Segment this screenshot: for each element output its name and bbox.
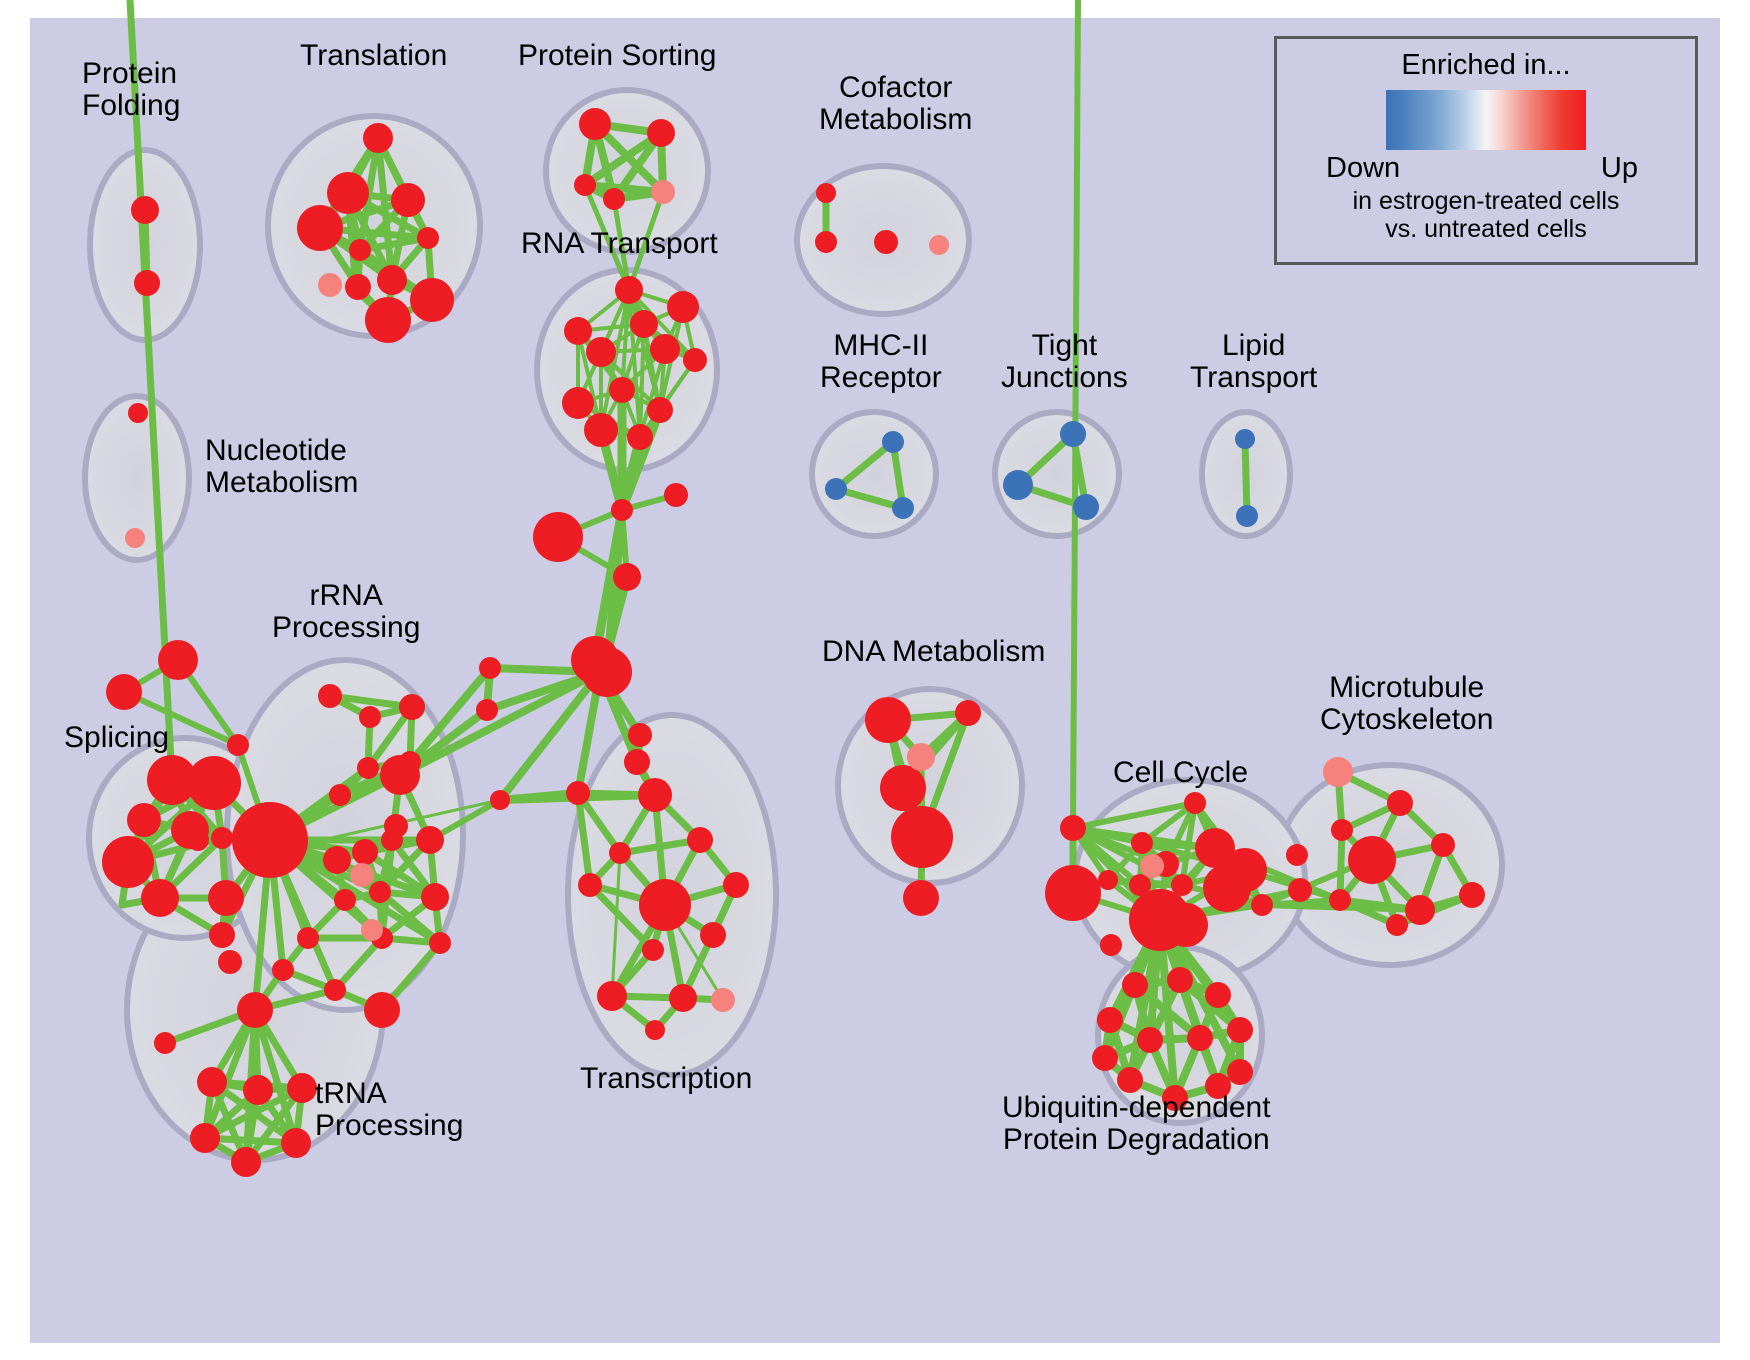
node[interactable] (687, 827, 713, 853)
node[interactable] (816, 183, 836, 203)
node[interactable] (630, 310, 658, 338)
node[interactable] (865, 697, 911, 743)
node[interactable] (1003, 470, 1033, 500)
cluster-label-tight-junctions: Tight Junctions (1001, 330, 1128, 394)
node[interactable] (664, 483, 688, 507)
node[interactable] (892, 497, 914, 519)
node[interactable] (329, 784, 351, 806)
node[interactable] (243, 1075, 273, 1105)
node[interactable] (364, 992, 400, 1028)
node[interactable] (127, 803, 161, 837)
node[interactable] (874, 230, 898, 254)
node[interactable] (363, 123, 393, 153)
node[interactable] (627, 424, 653, 450)
node[interactable] (1203, 864, 1251, 912)
node[interactable] (359, 706, 381, 728)
node[interactable] (1184, 792, 1206, 814)
node[interactable] (211, 827, 233, 849)
node[interactable] (1431, 833, 1455, 857)
node[interactable] (1131, 832, 1153, 854)
node[interactable] (141, 879, 179, 917)
node[interactable] (645, 1020, 665, 1040)
cluster-label-translation: Translation (300, 40, 447, 72)
legend-up-label: Up (1601, 152, 1638, 185)
cluster-label-cell-cycle: Cell Cycle (1113, 757, 1248, 789)
node[interactable] (880, 765, 926, 811)
node[interactable] (490, 790, 510, 810)
node[interactable] (416, 826, 444, 854)
node[interactable] (1097, 1007, 1123, 1033)
node[interactable] (361, 919, 383, 941)
node[interactable] (350, 863, 374, 887)
cluster-label-mhc-ii-receptor: MHC-II Receptor (820, 330, 942, 394)
legend-down-label: Down (1326, 152, 1400, 185)
node[interactable] (1140, 854, 1164, 878)
node[interactable] (955, 700, 981, 726)
cluster-label-protein-folding: Protein Folding (82, 58, 180, 122)
node[interactable] (232, 802, 308, 878)
node[interactable] (318, 273, 342, 297)
node[interactable] (324, 979, 346, 1001)
cluster-label-cofactor-metabolism: Cofactor Metabolism (819, 72, 972, 136)
node[interactable] (609, 842, 631, 864)
node[interactable] (609, 377, 635, 403)
node[interactable] (345, 274, 371, 300)
node[interactable] (683, 348, 707, 372)
node[interactable] (1098, 870, 1118, 890)
cluster-label-microtubule-cytoskeleton: Microtubule Cytoskeleton (1320, 672, 1493, 736)
node[interactable] (642, 939, 664, 961)
node[interactable] (357, 757, 379, 779)
node[interactable] (352, 839, 378, 865)
enrichment-map-figure: Protein Folding Translation Protein Sort… (0, 0, 1750, 1360)
node[interactable] (399, 694, 425, 720)
node[interactable] (1122, 972, 1148, 998)
node[interactable] (1331, 819, 1353, 841)
node[interactable] (1073, 494, 1099, 520)
node[interactable] (624, 749, 650, 775)
legend-subtitle-line-2: vs. untreated cells (1277, 216, 1695, 244)
node[interactable] (154, 1032, 176, 1054)
cluster-label-protein-sorting: Protein Sorting (518, 40, 716, 72)
node[interactable] (318, 684, 342, 708)
node[interactable] (562, 387, 594, 419)
node[interactable] (1164, 903, 1208, 947)
node[interactable] (287, 1073, 317, 1103)
node[interactable] (197, 1067, 227, 1097)
node[interactable] (128, 403, 148, 423)
legend-endpoint-labels: Down Up (1326, 152, 1646, 188)
node[interactable] (1329, 889, 1351, 911)
node[interactable] (723, 872, 749, 898)
node[interactable] (377, 265, 407, 295)
node[interactable] (650, 334, 680, 364)
node[interactable] (1236, 505, 1258, 527)
node[interactable] (825, 478, 847, 500)
node[interactable] (1060, 815, 1086, 841)
node[interactable] (669, 984, 697, 1012)
cluster-label-ubiquitin-protein-degradation: Ubiquitin-dependent Protein Degradation (1002, 1092, 1271, 1156)
node[interactable] (815, 231, 837, 253)
node[interactable] (647, 397, 673, 423)
node[interactable] (1459, 882, 1485, 908)
node[interactable] (349, 239, 371, 261)
node[interactable] (1251, 894, 1273, 916)
legend-box: Enriched in... Down Up in estrogen-treat… (1274, 36, 1698, 265)
node[interactable] (611, 499, 633, 521)
cluster-label-nucleotide-metabolism: Nucleotide Metabolism (205, 435, 358, 499)
node[interactable] (1100, 934, 1122, 956)
node[interactable] (882, 431, 904, 453)
node[interactable] (391, 183, 425, 217)
node[interactable] (613, 563, 641, 591)
node[interactable] (1405, 895, 1435, 925)
node[interactable] (323, 846, 351, 874)
node[interactable] (365, 297, 411, 343)
cluster-label-splicing: Splicing (64, 722, 169, 754)
node[interactable] (297, 205, 343, 251)
node[interactable] (615, 276, 643, 304)
node[interactable] (227, 734, 249, 756)
node[interactable] (106, 674, 142, 710)
node[interactable] (208, 880, 244, 916)
node[interactable] (639, 879, 691, 931)
node[interactable] (380, 755, 420, 795)
node[interactable] (533, 512, 583, 562)
node[interactable] (1117, 1067, 1143, 1093)
node[interactable] (603, 188, 625, 210)
node[interactable] (190, 1123, 220, 1153)
node[interactable] (929, 235, 949, 255)
node[interactable] (903, 880, 939, 916)
node[interactable] (429, 932, 451, 954)
node[interactable] (628, 723, 652, 747)
legend-color-gradient-bar (1386, 90, 1586, 150)
node[interactable] (597, 981, 627, 1011)
node[interactable] (102, 836, 154, 888)
node[interactable] (1092, 1045, 1118, 1071)
node[interactable] (384, 814, 408, 838)
cluster-label-lipid-transport: Lipid Transport (1190, 330, 1317, 394)
cluster-ellipse-mhc-ii-receptor (812, 412, 936, 536)
node[interactable] (907, 743, 935, 771)
node[interactable] (1235, 429, 1255, 449)
node[interactable] (1227, 1017, 1253, 1043)
node[interactable] (891, 806, 953, 868)
node[interactable] (134, 270, 160, 296)
node[interactable] (479, 657, 501, 679)
node[interactable] (1348, 836, 1396, 884)
node[interactable] (476, 699, 498, 721)
node[interactable] (334, 889, 356, 911)
node[interactable] (566, 781, 590, 805)
node[interactable] (1060, 421, 1086, 447)
cluster-label-dna-metabolism: DNA Metabolism (822, 636, 1045, 668)
node[interactable] (1227, 1059, 1253, 1085)
cluster-label-transcription: Transcription (580, 1063, 752, 1095)
node[interactable] (711, 988, 735, 1012)
node[interactable] (410, 278, 454, 322)
node[interactable] (218, 950, 242, 974)
node[interactable] (231, 1147, 261, 1177)
node[interactable] (417, 227, 439, 249)
node[interactable] (209, 922, 235, 948)
node[interactable] (582, 647, 632, 697)
node[interactable] (638, 778, 672, 812)
node[interactable] (327, 172, 369, 214)
node[interactable] (272, 959, 294, 981)
cluster-label-trna-processing: tRNA Processing (315, 1078, 463, 1142)
legend-title: Enriched in... (1277, 49, 1695, 82)
node[interactable] (158, 640, 198, 680)
cluster-label-rna-transport: RNA Transport (521, 228, 718, 260)
node[interactable] (1387, 790, 1413, 816)
node[interactable] (586, 337, 616, 367)
node[interactable] (574, 174, 596, 196)
node[interactable] (1288, 878, 1312, 902)
node[interactable] (187, 756, 241, 810)
node[interactable] (584, 413, 618, 447)
node[interactable] (1323, 757, 1353, 787)
node[interactable] (1286, 844, 1308, 866)
node[interactable] (297, 927, 319, 949)
node[interactable] (700, 922, 726, 948)
node[interactable] (1045, 865, 1101, 921)
node[interactable] (131, 196, 159, 224)
node[interactable] (564, 317, 592, 345)
legend-subtitle-line-1: in estrogen-treated cells (1277, 188, 1695, 216)
node[interactable] (578, 873, 602, 897)
node[interactable] (667, 291, 699, 323)
node[interactable] (579, 108, 611, 140)
node[interactable] (1187, 1025, 1213, 1051)
node[interactable] (187, 829, 209, 851)
node[interactable] (237, 992, 273, 1028)
node[interactable] (651, 180, 675, 204)
node[interactable] (281, 1128, 311, 1158)
node[interactable] (369, 881, 391, 903)
node[interactable] (647, 119, 675, 147)
node[interactable] (1167, 967, 1193, 993)
node[interactable] (125, 528, 145, 548)
node[interactable] (1386, 914, 1408, 936)
node[interactable] (1137, 1027, 1163, 1053)
node[interactable] (421, 883, 449, 911)
node[interactable] (1205, 982, 1231, 1008)
cluster-label-rrna-processing: rRNA Processing (272, 580, 420, 644)
